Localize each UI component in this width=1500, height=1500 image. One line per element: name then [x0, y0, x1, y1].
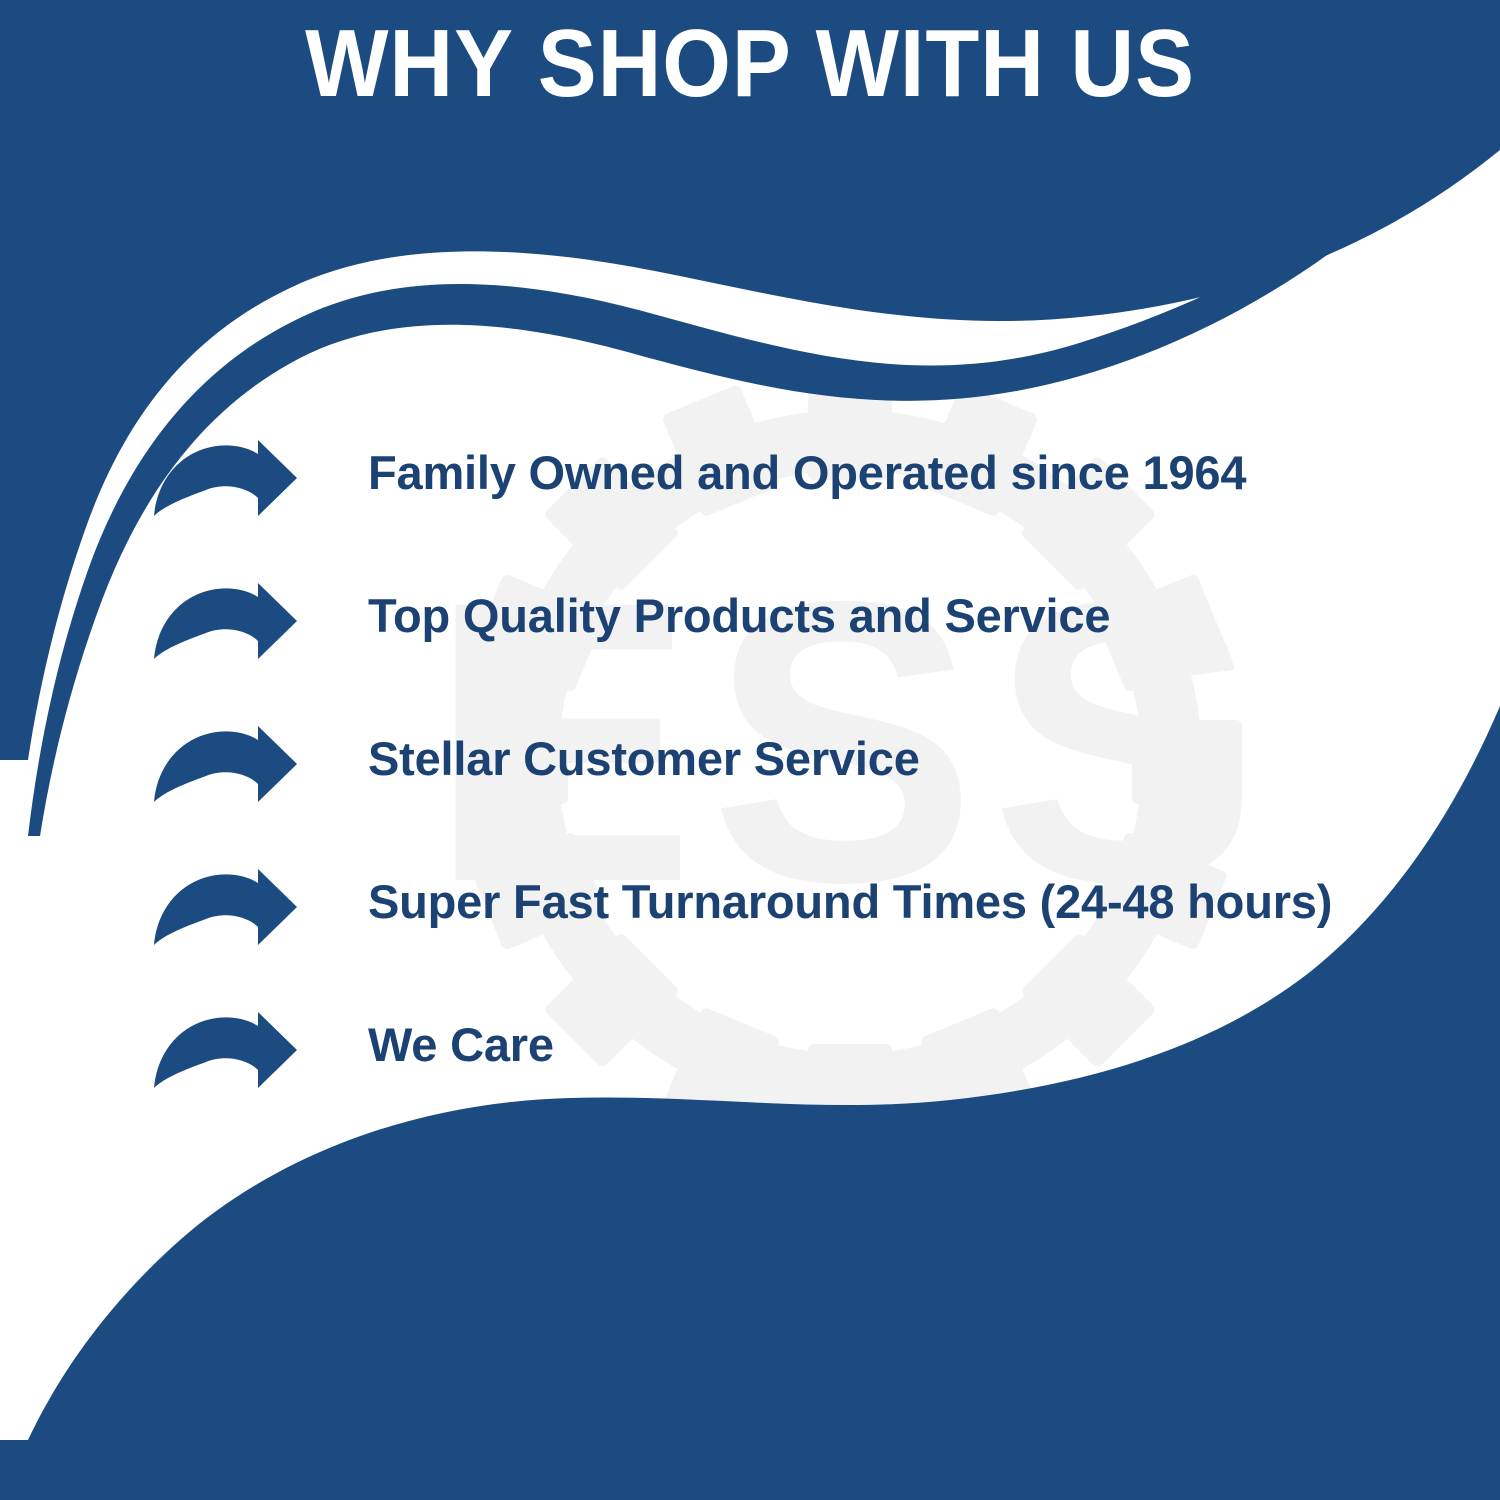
- list-item-label: Family Owned and Operated since 1964: [368, 444, 1246, 502]
- list-item-label: Super Fast Turnaround Times (24-48 hours…: [368, 873, 1332, 931]
- why-shop-with-us-graphic: ESS WHY SHOP WITH US Family Owned and Op…: [0, 0, 1500, 1500]
- list-item-label: Top Quality Products and Service: [368, 587, 1110, 645]
- curved-arrow-right-icon: [152, 583, 298, 661]
- curved-arrow-right-icon: [152, 1012, 298, 1090]
- curved-arrow-right-icon: [152, 726, 298, 804]
- page-title: WHY SHOP WITH US: [60, 14, 1440, 115]
- list-item: Family Owned and Operated since 1964: [0, 430, 1500, 573]
- list-item-label: Stellar Customer Service: [368, 730, 920, 788]
- benefits-list: Family Owned and Operated since 1964 Top…: [0, 430, 1500, 1145]
- curved-arrow-right-icon: [152, 440, 298, 518]
- list-item: Stellar Customer Service: [0, 716, 1500, 859]
- list-item-label: We Care: [368, 1016, 554, 1074]
- list-item: Top Quality Products and Service: [0, 573, 1500, 716]
- curved-arrow-right-icon: [152, 869, 298, 947]
- list-item: Super Fast Turnaround Times (24-48 hours…: [0, 859, 1500, 1002]
- list-item: We Care: [0, 1002, 1500, 1145]
